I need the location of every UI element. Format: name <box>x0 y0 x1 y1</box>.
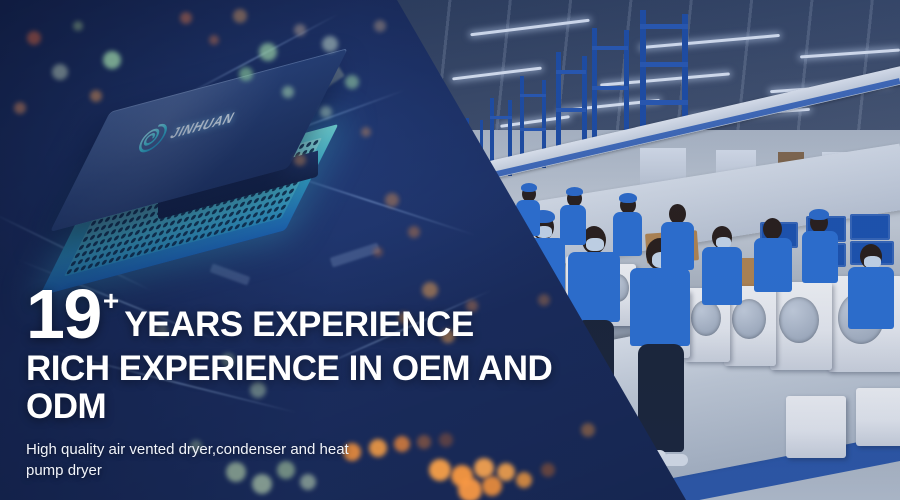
years-headline-row: 19 + YEARS EXPERIENCE <box>26 285 626 344</box>
dryer-unit <box>786 396 846 458</box>
worker-cap <box>619 193 637 203</box>
factory-worker <box>846 244 896 348</box>
factory-worker <box>612 196 644 264</box>
bokeh-dot <box>282 86 294 98</box>
worker-uniform <box>754 238 792 292</box>
worker-face-mask <box>586 238 604 251</box>
factory-worker <box>560 190 588 250</box>
overhead-rack-beam <box>640 62 688 67</box>
factory-worker <box>752 218 794 308</box>
bokeh-dot <box>294 24 306 36</box>
bokeh-dot <box>259 43 277 61</box>
bokeh-dot <box>209 35 219 45</box>
bokeh-dot <box>239 67 253 81</box>
bokeh-dot <box>233 9 247 23</box>
worker-uniform <box>802 231 838 283</box>
worker-uniform <box>613 212 642 256</box>
bokeh-dot <box>374 20 386 32</box>
bokeh-dot <box>373 247 383 257</box>
overhead-rack-beam <box>592 86 628 90</box>
overhead-rack-beam <box>640 24 688 29</box>
worker-uniform <box>560 205 586 245</box>
bokeh-dot <box>385 193 399 207</box>
bokeh-dot <box>14 102 26 114</box>
bokeh-dot <box>361 127 371 137</box>
overhead-rack-beam <box>490 116 512 119</box>
worker-cap <box>521 183 537 192</box>
worker-cap <box>566 187 583 196</box>
bokeh-dot <box>345 75 359 89</box>
bokeh-dot <box>103 51 121 69</box>
overhead-rack-beam <box>520 94 546 97</box>
parts-crate <box>850 214 890 240</box>
factory-worker <box>660 204 696 280</box>
factory-worker <box>700 226 744 322</box>
bokeh-dot <box>322 36 338 52</box>
overhead-rack-beam <box>520 128 546 131</box>
worker-shoe <box>662 454 688 466</box>
overhead-rack-beam <box>556 108 586 112</box>
overhead-rack-beam <box>640 100 688 105</box>
worker-cap <box>809 209 829 220</box>
overhead-rack-beam <box>592 46 628 50</box>
bokeh-dot <box>320 106 332 118</box>
years-experience-label: YEARS EXPERIENCE <box>124 307 474 342</box>
overhead-rack-post <box>592 28 597 140</box>
bokeh-dot <box>73 21 83 31</box>
worker-uniform <box>661 222 694 270</box>
overhead-rack-post <box>556 52 561 156</box>
worker-uniform <box>848 267 894 329</box>
bokeh-dot <box>408 226 420 238</box>
bokeh-dot <box>52 64 68 80</box>
bokeh-dot <box>27 31 41 45</box>
factory-worker <box>800 212 840 298</box>
headline-block: 19 + YEARS EXPERIENCE RICH EXPERIENCE IN… <box>26 285 626 482</box>
bokeh-dot <box>180 12 192 24</box>
headline-secondary: RICH EXPERIENCE IN OEM AND ODM <box>26 350 626 426</box>
worker-head <box>669 204 686 224</box>
dryer-unit <box>856 388 900 446</box>
years-number: 19 <box>26 285 101 344</box>
bokeh-dot <box>294 154 306 166</box>
subcopy-text: High quality air vented dryer,condenser … <box>26 439 376 483</box>
overhead-rack-beam <box>556 70 586 74</box>
bokeh-dot <box>90 90 102 102</box>
promo-banner: JINHUAN 19 + YEARS EXPERIENCE RICH EXPER… <box>0 0 900 500</box>
worker-head <box>763 218 782 240</box>
plus-symbol: + <box>103 287 119 315</box>
worker-uniform <box>702 247 742 305</box>
